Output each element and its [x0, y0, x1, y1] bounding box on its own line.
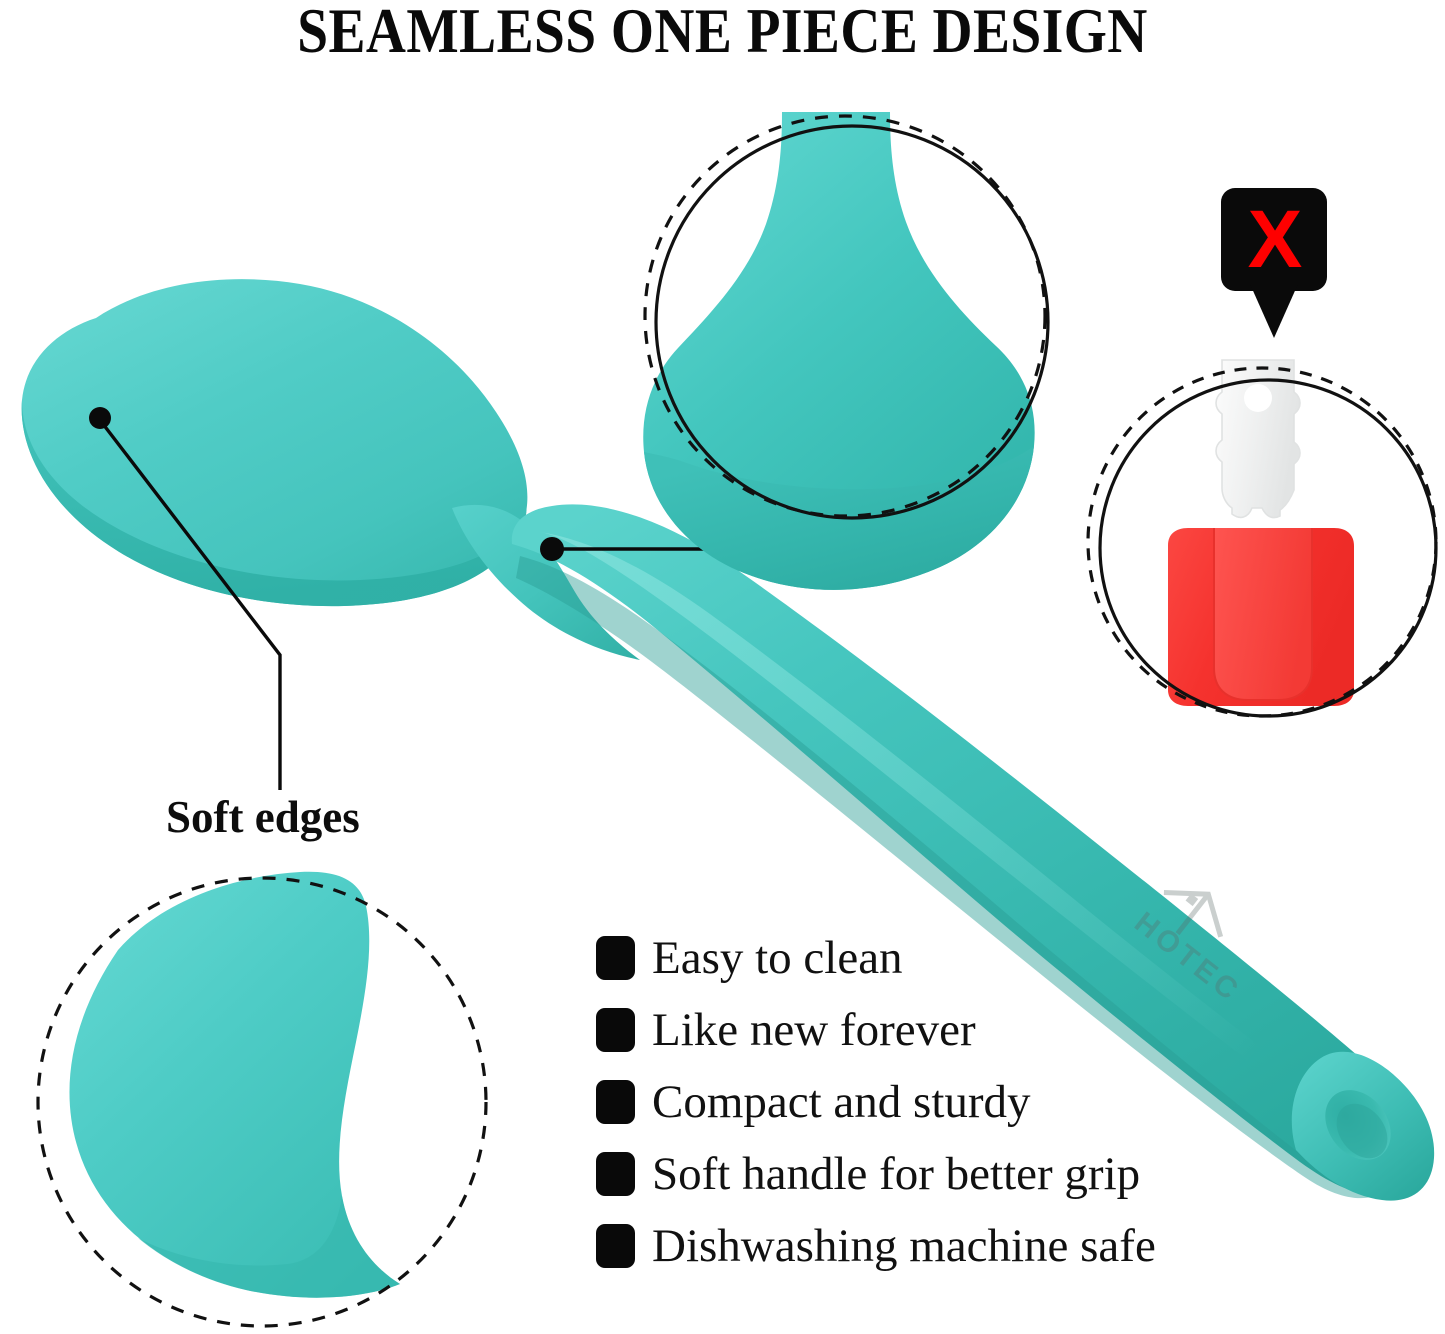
- feature-label: Dishwashing machine safe: [652, 1223, 1156, 1270]
- feature-item: Dishwashing machine safe: [596, 1210, 1326, 1282]
- bullet-square-icon: [596, 1152, 635, 1196]
- detail-circle-soft-edge: [30, 865, 500, 1334]
- warning-arrow-icon: [1250, 284, 1298, 338]
- two-piece-red-seam: [1214, 528, 1312, 700]
- feature-list: Easy to clean Like new forever Compact a…: [596, 922, 1326, 1282]
- detail-circle-seamless-joint: [630, 110, 1060, 590]
- callout-dot-seamless-joint: [540, 537, 564, 561]
- feature-label: Easy to clean: [652, 935, 903, 982]
- feature-label: Compact and sturdy: [652, 1079, 1031, 1126]
- callout-dot-soft-edges: [89, 407, 111, 429]
- feature-label: Soft handle for better grip: [652, 1151, 1140, 1198]
- warning-x-icon: X: [1221, 188, 1327, 291]
- bullet-square-icon: [596, 1008, 635, 1052]
- feature-item: Easy to clean: [596, 922, 1326, 994]
- two-piece-plastic-hole: [1244, 384, 1272, 412]
- spatula-head: [22, 279, 528, 606]
- feature-label: Like new forever: [652, 1007, 976, 1054]
- bullet-square-icon: [596, 936, 635, 980]
- bullet-square-icon: [596, 1224, 635, 1268]
- feature-item: Compact and sturdy: [596, 1066, 1326, 1138]
- feature-item: Soft handle for better grip: [596, 1138, 1326, 1210]
- bullet-square-icon: [596, 1080, 635, 1124]
- warning-badge: X: [1221, 188, 1329, 338]
- product-infographic: SEAMLESS ONE PIECE DESIGN: [0, 0, 1445, 1334]
- feature-item: Like new forever: [596, 994, 1326, 1066]
- soft-edges-label: Soft edges: [166, 791, 360, 843]
- detail-circle-two-piece: [1088, 360, 1440, 720]
